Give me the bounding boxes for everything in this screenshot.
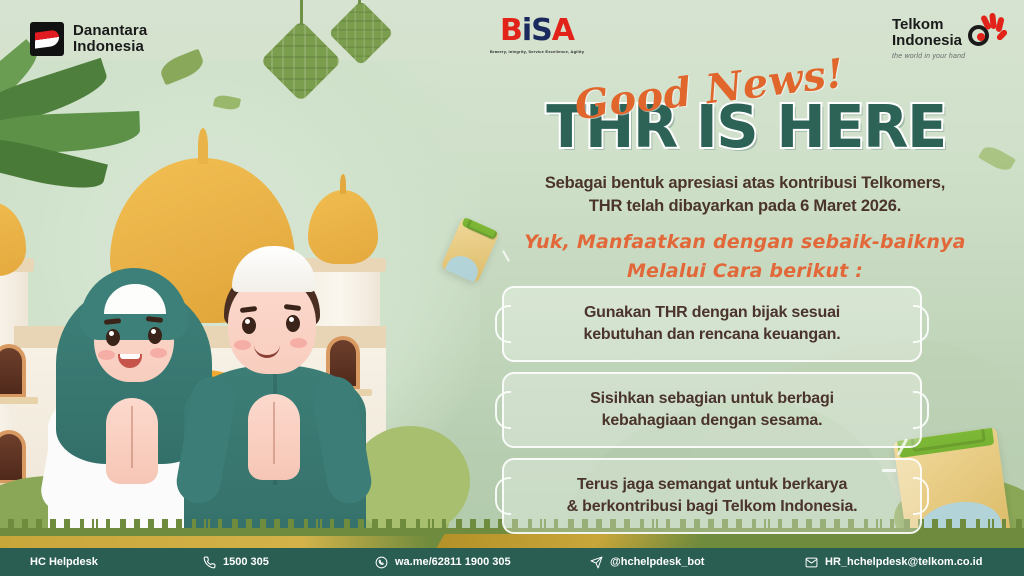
footer-phone-label: 1500 305 — [223, 556, 269, 568]
palm-leaf — [0, 111, 141, 155]
bisa-logo-word: BiSA — [472, 16, 602, 46]
phone-icon — [203, 556, 216, 569]
girl-eye — [148, 327, 162, 344]
girl-cheek — [98, 350, 115, 360]
boy-eye — [242, 317, 256, 334]
boy-kopiah-cap — [232, 246, 316, 292]
bisa-letter-s: S — [531, 13, 552, 48]
telkom-logo-line1: Telkom — [892, 17, 962, 33]
floating-leaf-icon — [157, 49, 206, 86]
footer-email[interactable]: HR_hchelpdesk@telkom.co.id — [805, 556, 982, 569]
boy-cheek — [290, 338, 307, 348]
danantara-logo-text: Danantara Indonesia — [73, 23, 147, 55]
tips-card-line1: Gunakan THR dengan bijak sesuai — [584, 304, 840, 321]
telkom-hand-ring-icon — [966, 16, 1004, 50]
cta-line1: Yuk, Manfaatkan dengan sebaik-baiknya — [524, 231, 965, 253]
telkom-logo-text: Telkom Indonesia — [892, 17, 962, 49]
girl-eye — [106, 329, 120, 346]
mosque-minaret-left — [0, 258, 28, 508]
telkom-logo-tagline: the world in your hand — [892, 53, 1020, 60]
tips-card-text: Sisihkan sebagian untuk berbagi kebahagi… — [590, 388, 834, 432]
cta-script-text: Yuk, Manfaatkan dengan sebaik-baiknya Me… — [470, 228, 1020, 285]
telegram-icon — [590, 556, 603, 569]
tips-card: Sisihkan sebagian untuk berbagi kebahagi… — [502, 372, 922, 448]
thr-announcement-poster: Danantara Indonesia BiSA Bravery, Integr… — [0, 0, 1024, 576]
footer-whatsapp[interactable]: wa.me/62811 1900 305 — [375, 556, 511, 569]
ketupat-string — [358, 0, 361, 4]
bisa-letter-a: A — [552, 13, 574, 48]
danantara-logo-line1: Danantara — [73, 23, 147, 39]
footer-whatsapp-label: wa.me/62811 1900 305 — [395, 556, 511, 568]
floating-leaf-icon — [213, 93, 241, 111]
subtitle-payment-date: 6 Maret 2026. — [800, 197, 901, 215]
tips-card-line2: kebutuhan dan rencana keuangan. — [584, 326, 841, 343]
hanging-ketupat-icon — [272, 32, 330, 90]
subtitle-text: Sebagai bentuk apresiasi atas kontribusi… — [470, 172, 1020, 219]
tips-card-line1: Sisihkan sebagian untuk berbagi — [590, 390, 834, 407]
tips-card: Gunakan THR dengan bijak sesuai kebutuha… — [502, 286, 922, 362]
telkom-logo: Telkom Indonesia the world in your hand — [892, 16, 1020, 60]
cta-line2: Melalui Cara berikut : — [627, 260, 863, 282]
tips-card-text: Gunakan THR dengan bijak sesuai kebutuha… — [584, 302, 841, 346]
tips-card-line2: & berkontribusi bagi Telkom Indonesia. — [567, 498, 858, 515]
danantara-garuda-icon — [30, 22, 64, 56]
palm-leaf — [0, 58, 112, 139]
bisa-logo-tagline: Bravery, Integrity, Service Excellence, … — [472, 49, 602, 54]
girl-praying-hands-icon — [106, 398, 158, 484]
subtitle-line2-prefix: THR telah dibayarkan pada — [589, 197, 800, 215]
palm-leaf — [0, 128, 108, 197]
footer-brand-label: HC Helpdesk — [30, 556, 98, 568]
envelope-icon — [805, 556, 818, 569]
tips-card-line1: Terus jaga semangat untuk berkarya — [577, 476, 847, 493]
bisa-logo: BiSA Bravery, Integrity, Service Excelle… — [472, 16, 602, 54]
subtitle-line1: Sebagai bentuk apresiasi atas kontribusi… — [545, 174, 945, 192]
content-column: Danantara Indonesia BiSA Bravery, Integr… — [462, 0, 1024, 576]
tips-card: Terus jaga semangat untuk berkarya & ber… — [502, 458, 922, 534]
boy-cheek — [234, 340, 251, 350]
bisa-letter-i: i — [522, 13, 531, 48]
mosque-dome-small-left — [0, 202, 26, 276]
tips-card-text: Terus jaga semangat untuk berkarya & ber… — [567, 474, 858, 518]
couple-greeting-illustration — [40, 190, 380, 550]
ketupat-string — [300, 0, 303, 40]
danantara-logo: Danantara Indonesia — [30, 22, 147, 56]
tips-card-line2: kebahagiaan dengan sesama. — [602, 412, 823, 429]
telkom-logo-line2: Indonesia — [892, 33, 962, 49]
boy-character — [180, 205, 370, 550]
tips-card-list: Gunakan THR dengan bijak sesuai kebutuha… — [502, 286, 922, 544]
hanging-ketupat-icon — [338, 10, 384, 56]
boy-praying-hands-icon — [248, 394, 300, 480]
contact-footer-bar: HC Helpdesk 1500 305 wa.me/62811 1900 30… — [0, 548, 1024, 576]
footer-telegram-label: @hchelpdesk_bot — [610, 556, 704, 568]
footer-telegram[interactable]: @hchelpdesk_bot — [590, 556, 704, 569]
mosque-window — [0, 430, 26, 484]
footer-email-label: HR_hchelpdesk@telkom.co.id — [825, 556, 982, 568]
whatsapp-icon — [375, 556, 388, 569]
danantara-logo-line2: Indonesia — [73, 39, 147, 55]
boy-eye — [286, 315, 300, 332]
bisa-letter-b: B — [500, 13, 522, 48]
footer-phone[interactable]: 1500 305 — [203, 556, 269, 569]
girl-cheek — [150, 348, 167, 358]
mosque-window — [0, 344, 26, 398]
footer-brand: HC Helpdesk — [30, 556, 98, 568]
